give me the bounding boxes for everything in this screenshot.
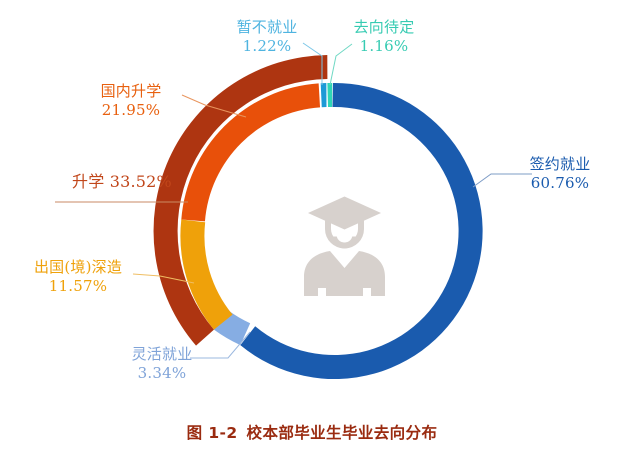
label-quxiangdaiding-value: 1.16%	[330, 37, 438, 56]
label-qianyuejiuye-name: 签约就业	[508, 155, 612, 174]
label-guoneishengxue-value: 21.95%	[75, 101, 187, 120]
figure-caption-text: 校本部毕业生毕业去向分布	[247, 424, 438, 442]
graduate-icon	[304, 197, 385, 297]
figure-caption: 图 1-2校本部毕业生毕业去向分布	[0, 421, 624, 443]
label-linghuojiuye: 灵活就业 3.34%	[108, 345, 216, 382]
label-zanbujiuye-value: 1.22%	[213, 37, 321, 56]
label-linghuojiuye-name: 灵活就业	[108, 345, 216, 364]
inner-ring-group	[180, 83, 482, 379]
label-quxiangdaiding: 去向待定 1.16%	[330, 18, 438, 55]
label-chuguoshenzao: 出国(境)深造 11.57%	[10, 258, 146, 295]
label-shengxue-row: 升学 33.52%	[52, 172, 192, 192]
label-qianyuejiuye-value: 60.76%	[508, 174, 612, 193]
figure-caption-number: 图 1-2	[187, 424, 238, 442]
label-guoneishengxue: 国内升学 21.95%	[75, 82, 187, 119]
figure-container: 暂不就业 1.22% 去向待定 1.16% 国内升学 21.95% 升学 33.…	[0, 0, 624, 472]
label-guoneishengxue-name: 国内升学	[75, 82, 187, 101]
donut-chart	[0, 0, 624, 472]
label-shengxue-name: 升学	[72, 172, 104, 191]
label-zanbujiuye: 暂不就业 1.22%	[213, 18, 321, 55]
slice-zanbujiuye	[321, 83, 327, 107]
label-linghuojiuye-value: 3.34%	[108, 364, 216, 383]
label-chuguoshenzao-name: 出国(境)深造	[10, 258, 146, 277]
label-shengxue-value: 33.52%	[110, 172, 172, 191]
label-quxiangdaiding-name: 去向待定	[330, 18, 438, 37]
label-chuguoshenzao-value: 11.57%	[10, 277, 146, 296]
label-qianyuejiuye: 签约就业 60.76%	[508, 155, 612, 192]
slice-quxiangdaiding	[327, 83, 332, 107]
label-zanbujiuye-name: 暂不就业	[213, 18, 321, 37]
label-shengxue: 升学 33.52%	[52, 172, 192, 192]
